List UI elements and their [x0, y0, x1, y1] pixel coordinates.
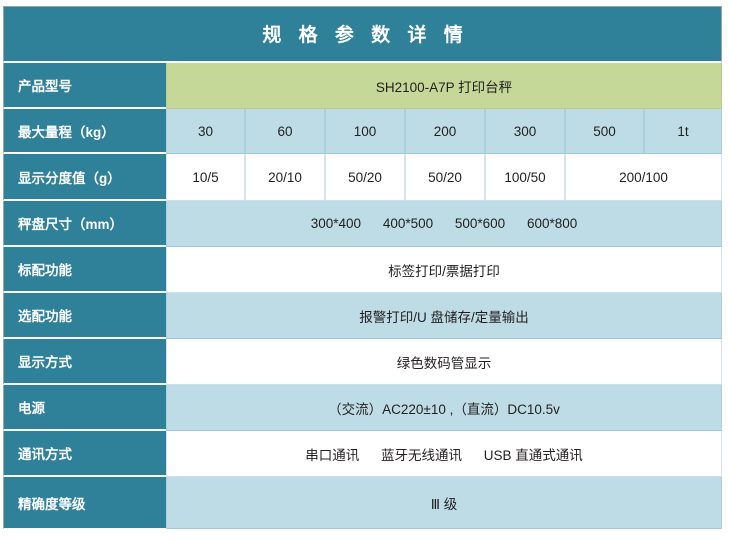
division-value: 100/50	[485, 154, 565, 201]
row-label-model: 产品型号	[3, 63, 166, 109]
spec-sheet: 规 格 参 数 详 情 产品型号 SH2100-A7P 打印台秤 最大量程（kg…	[3, 6, 722, 529]
row-label-standard-function: 标配功能	[3, 247, 166, 293]
row-value-communication: 串口通讯 蓝牙无线通讯 USB 直通式通讯	[166, 431, 722, 477]
row-value-optional-function: 报警打印/U 盘储存/定量输出	[166, 293, 722, 339]
row-label-capacity: 最大量程（kg）	[3, 109, 166, 154]
capacity-value: 500	[565, 109, 644, 154]
division-value: 10/5	[166, 154, 245, 201]
capacity-value: 100	[325, 109, 405, 154]
table-row-division: 显示分度值（g） 10/5 20/10 50/20 50/20 100/50 2…	[3, 154, 722, 201]
table-title-row: 规 格 参 数 详 情	[3, 6, 722, 63]
capacity-value: 60	[245, 109, 325, 154]
row-label-optional-function: 选配功能	[3, 293, 166, 339]
capacity-value: 30	[166, 109, 245, 154]
row-value-accuracy: Ⅲ 级	[166, 477, 722, 529]
capacity-value: 200	[405, 109, 485, 154]
row-label-display-mode: 显示方式	[3, 339, 166, 385]
row-label-pan-size: 秤盘尺寸（mm）	[3, 201, 166, 247]
capacity-value: 300	[485, 109, 565, 154]
table-row-standard-function: 标配功能 标签打印/票据打印	[3, 247, 722, 293]
table-row-power: 电源 （交流）AC220±10 ,（直流）DC10.5v	[3, 385, 722, 431]
row-label-accuracy: 精确度等级	[3, 477, 166, 529]
row-label-communication: 通讯方式	[3, 431, 166, 477]
communication-value: 蓝牙无线通讯	[372, 448, 471, 463]
table-row-communication: 通讯方式 串口通讯 蓝牙无线通讯 USB 直通式通讯	[3, 431, 722, 477]
table-row-pan-size: 秤盘尺寸（mm） 300*400 400*500 500*600 600*800	[3, 201, 722, 247]
table-row-capacity: 最大量程（kg） 30 60 100 200 300 500 1t	[3, 109, 722, 154]
row-value-power: （交流）AC220±10 ,（直流）DC10.5v	[166, 385, 722, 431]
pan-size-value: 400*500	[374, 216, 442, 231]
specification-table: 规 格 参 数 详 情 产品型号 SH2100-A7P 打印台秤 最大量程（kg…	[3, 6, 722, 529]
division-value: 200/100	[565, 154, 722, 201]
table-row-display-mode: 显示方式 绿色数码管显示	[3, 339, 722, 385]
table-row-model: 产品型号 SH2100-A7P 打印台秤	[3, 63, 722, 109]
pan-size-value: 500*600	[446, 216, 514, 231]
row-value-display-mode: 绿色数码管显示	[166, 339, 722, 385]
row-value-standard-function: 标签打印/票据打印	[166, 247, 722, 293]
communication-value: 串口通讯	[296, 448, 368, 463]
table-row-accuracy: 精确度等级 Ⅲ 级	[3, 477, 722, 529]
pan-size-value: 300*400	[302, 216, 370, 231]
row-label-division: 显示分度值（g）	[3, 154, 166, 201]
division-value: 50/20	[405, 154, 485, 201]
division-value: 50/20	[325, 154, 405, 201]
page-title: 规 格 参 数 详 情	[3, 6, 722, 63]
capacity-value: 1t	[644, 109, 722, 154]
communication-value: USB 直通式通讯	[475, 448, 592, 463]
division-value: 20/10	[245, 154, 325, 201]
row-value-pan-size: 300*400 400*500 500*600 600*800	[166, 201, 722, 247]
pan-size-value: 600*800	[518, 216, 586, 231]
row-label-power: 电源	[3, 385, 166, 431]
row-value-model: SH2100-A7P 打印台秤	[166, 63, 722, 109]
table-row-optional-function: 选配功能 报警打印/U 盘储存/定量输出	[3, 293, 722, 339]
